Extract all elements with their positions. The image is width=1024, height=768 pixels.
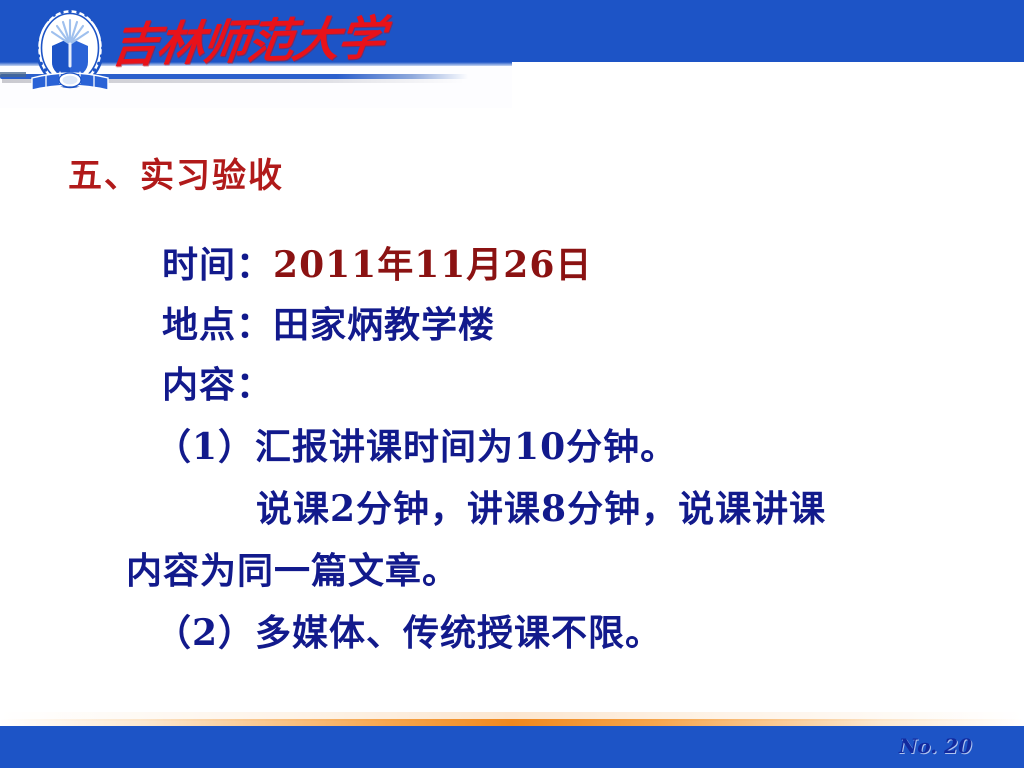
info-line-place: 地点：田家炳教学楼	[162, 296, 495, 348]
university-emblem-icon	[22, 4, 118, 100]
section-title: 五、实习验收	[68, 148, 284, 197]
slide-body: 五、实习验收 时间：2011年11月26日 地点：田家炳教学楼 内容： （1）汇…	[0, 118, 1024, 708]
slide-footer: No. 20	[0, 708, 1024, 768]
footer-blue-bar	[0, 726, 1024, 768]
info-value-place: 田家炳教学楼	[273, 304, 495, 346]
content-item-1-detail: 说课2分钟，讲课8分钟，说课讲课	[256, 480, 826, 532]
university-wordmark: 吉林师范大学	[107, 10, 376, 79]
info-label-time: 时间：	[162, 244, 273, 286]
info-value-time: 2011年11月26日	[273, 244, 592, 286]
info-label-place: 地点：	[162, 304, 273, 346]
info-line-time: 时间：2011年11月26日	[162, 236, 592, 288]
content-item-1-continuation: 内容为同一篇文章。	[126, 542, 459, 594]
info-label-content: 内容：	[162, 364, 273, 406]
content-item-2: （2）多媒体、传统授课不限。	[155, 604, 662, 656]
footer-accent-line	[0, 719, 1024, 726]
slide-canvas: 吉林师范大学 五、实习验收 时间：2011年11月26日 地点：田家炳教学楼 内…	[0, 0, 1024, 768]
info-line-content: 内容：	[162, 356, 273, 408]
content-item-1: （1）汇报讲课时间为10分钟。	[155, 418, 677, 470]
slide-number-label: No. 20	[899, 734, 972, 758]
slide-header: 吉林师范大学	[0, 0, 1024, 108]
